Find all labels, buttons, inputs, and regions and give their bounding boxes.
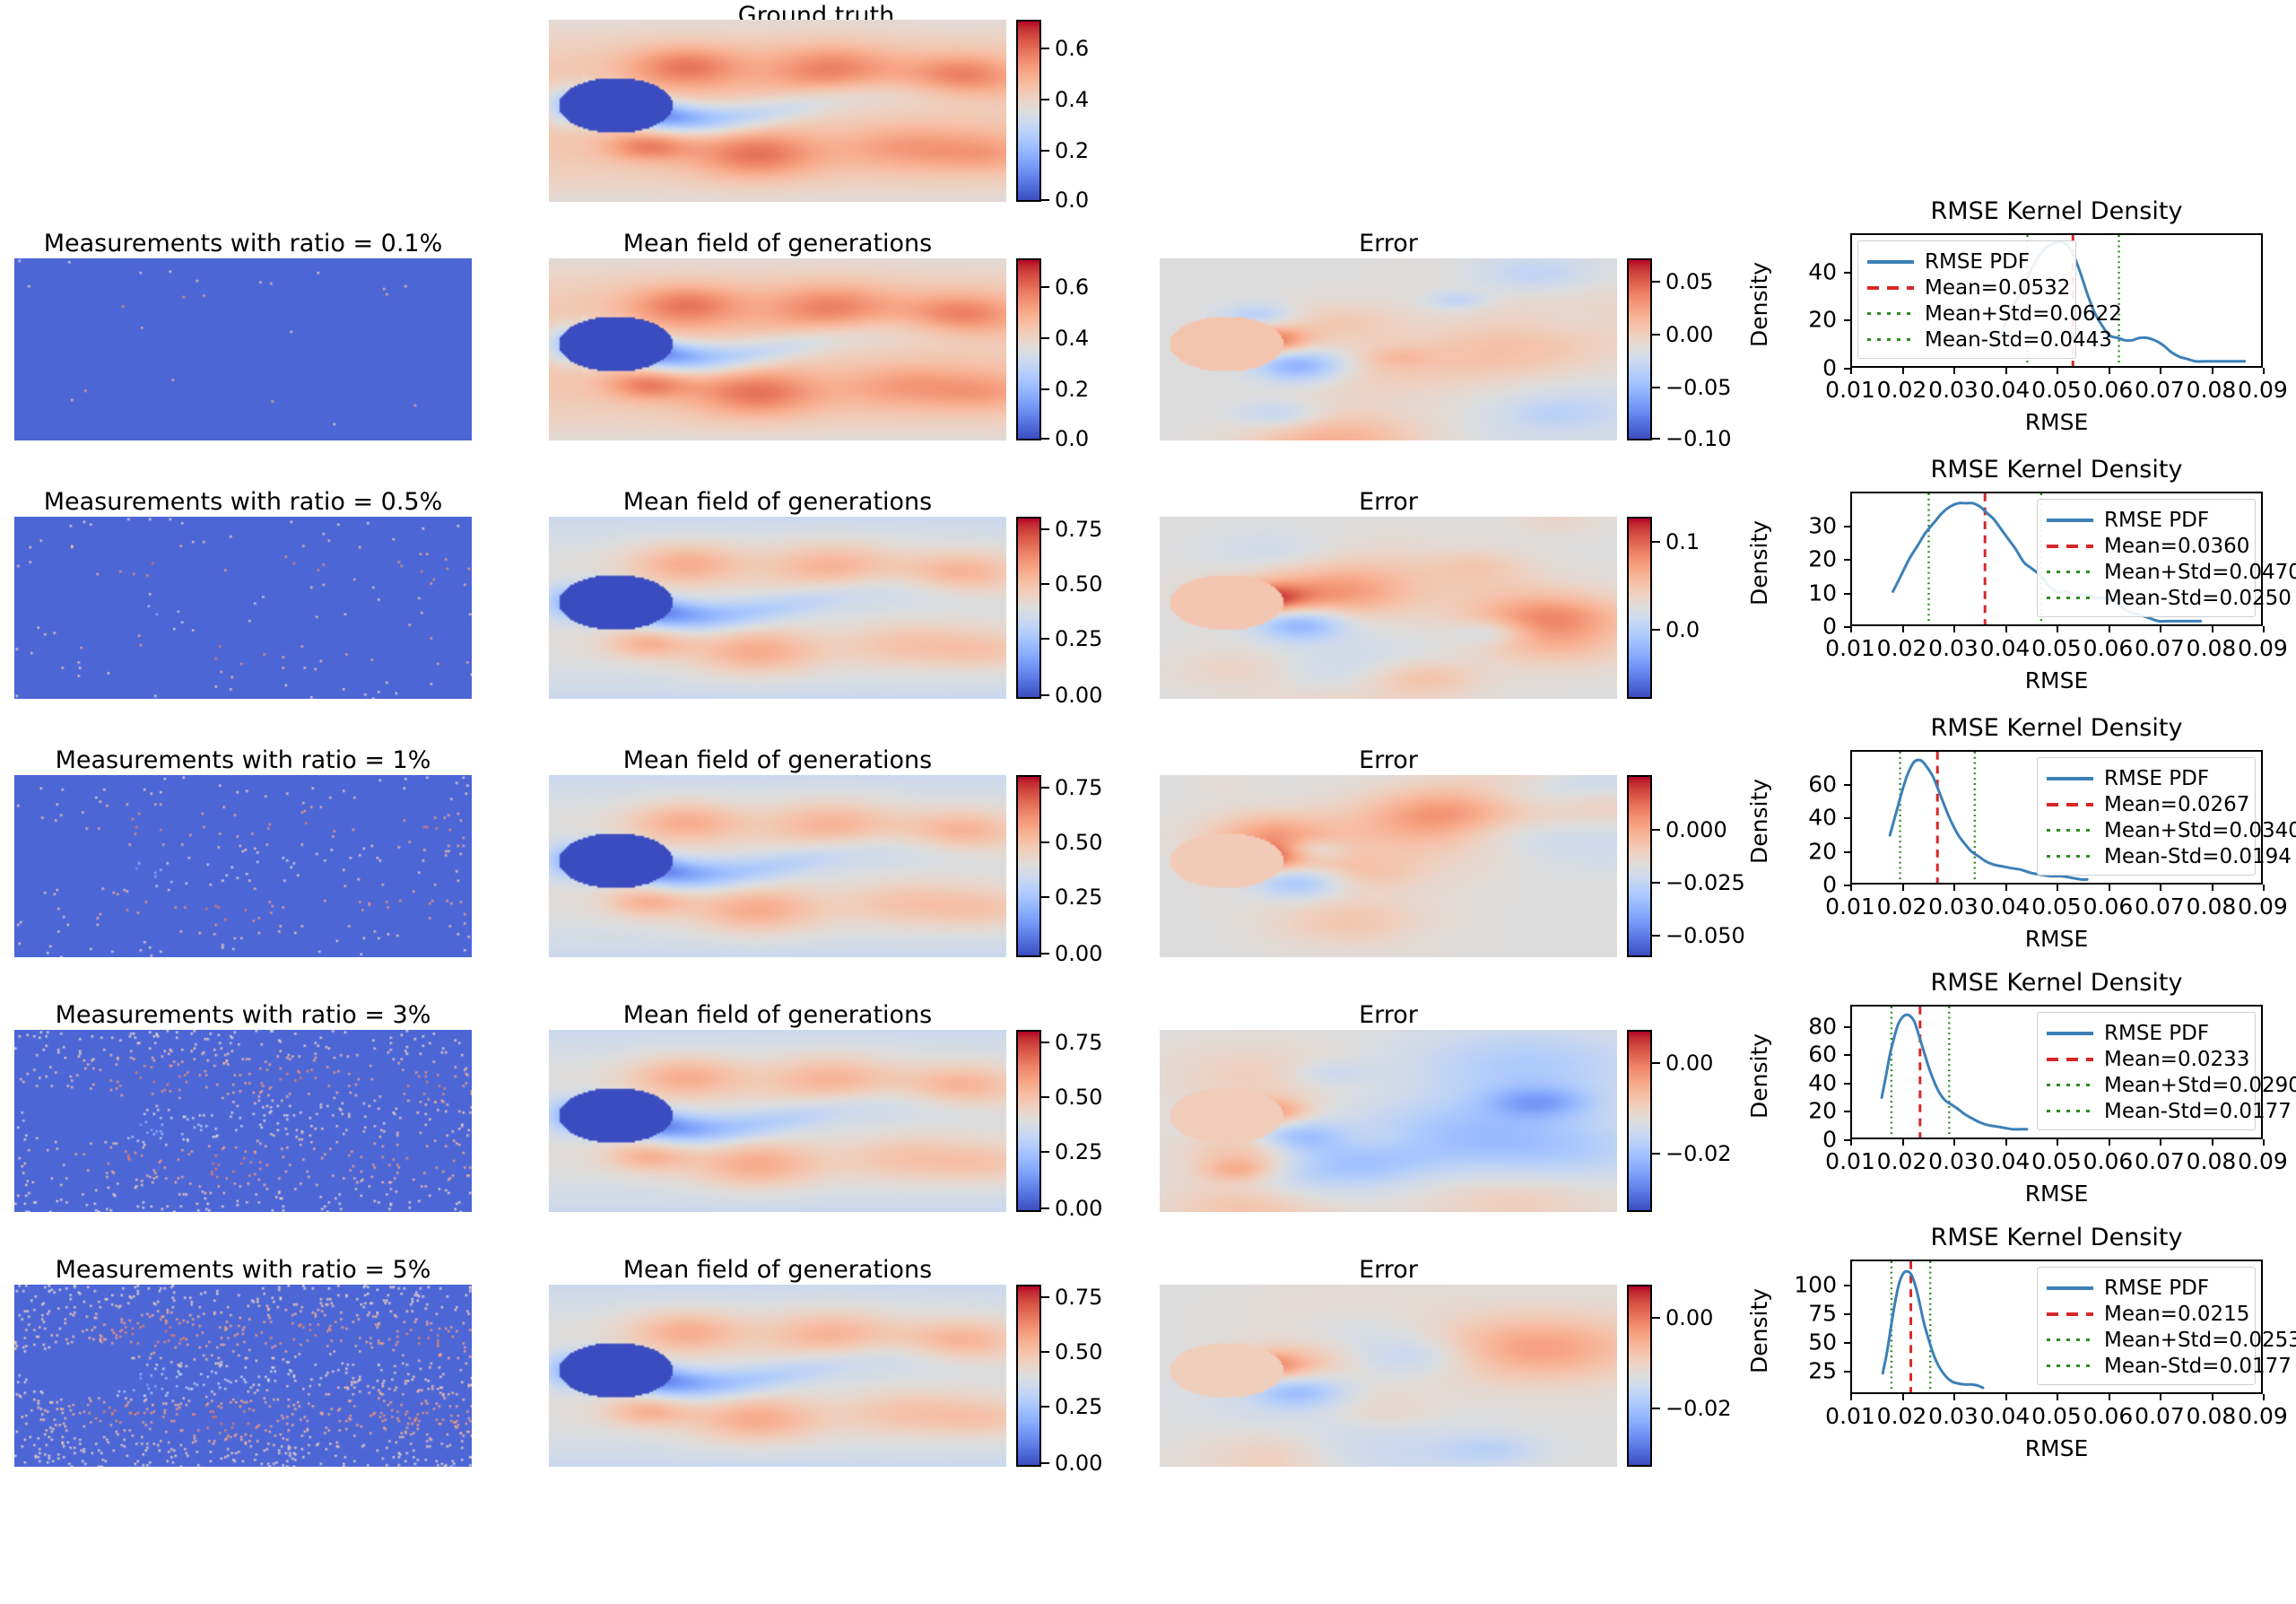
cbar-tick-label: −0.10 — [1665, 428, 1732, 449]
x-tick-mark — [1953, 368, 1955, 374]
kde-title: RMSE Kernel Density — [1753, 456, 2296, 484]
cbar-tick-mark — [1652, 1317, 1660, 1319]
cbar-tick: 0.00 — [1041, 1198, 1102, 1219]
x-tick-label: 0.03 — [1928, 1148, 1979, 1174]
rmse-kde-plot: RMSE Kernel Density0.010.020.030.040.050… — [1753, 456, 2296, 689]
cbar-tick-label: 0.0 — [1055, 428, 1089, 449]
x-tick-mark — [2212, 885, 2213, 891]
x-tick-mark — [1953, 1139, 1955, 1146]
x-tick-mark — [2005, 885, 2007, 891]
cbar-tick-mark — [1041, 337, 1049, 339]
legend-label: Mean+Std=0.0622 — [1925, 302, 2122, 326]
cbar-tick-label: 0.0 — [1055, 189, 1089, 211]
x-tick-mark — [2057, 1394, 2058, 1400]
x-tick-mark — [1953, 885, 1955, 891]
measurements-field — [14, 1285, 472, 1467]
ground-truth-colorbar-ticks: 0.6 0.4 0.2 0.0 — [1041, 20, 1122, 202]
x-tick-mark — [2057, 626, 2058, 632]
mean-field-image — [549, 1285, 1006, 1467]
x-tick-label: 0.07 — [2135, 1148, 2185, 1174]
cbar-tick-label: 0.25 — [1055, 886, 1102, 908]
rmse-kde-plot: RMSE Kernel Density0.010.020.030.040.050… — [1753, 969, 2296, 1202]
cbar-tick-mark — [1041, 1151, 1049, 1153]
legend-entry: Mean+Std=0.0622 — [1867, 301, 2065, 327]
cbar-tick-label: 0.4 — [1055, 327, 1089, 349]
x-tick-mark — [1850, 368, 1852, 374]
cbar-tick-label: 0.25 — [1055, 1141, 1102, 1163]
x-tick-label: 0.06 — [2083, 635, 2134, 661]
x-tick-label: 0.02 — [1877, 1403, 1927, 1429]
y-tick-mark — [1844, 272, 1850, 274]
y-tick-mark — [1844, 1342, 1850, 1344]
x-tick-mark — [2109, 626, 2110, 632]
x-tick-mark — [2160, 626, 2161, 632]
error-canvas — [1160, 1285, 1617, 1467]
error-field-image — [1160, 775, 1617, 957]
cbar-tick-label: 0.2 — [1055, 379, 1089, 400]
cbar-tick: 0.00 — [1041, 943, 1102, 964]
error-field-image — [1160, 258, 1617, 440]
cbar-tick-label: −0.02 — [1665, 1143, 1732, 1164]
legend-entry: Mean+Std=0.0340 — [2047, 817, 2244, 843]
legend-entry: Mean+Std=0.0470 — [2047, 559, 2244, 585]
cbar-tick-label: 0.00 — [1665, 324, 1713, 345]
cbar-tick-mark — [1041, 1096, 1049, 1098]
y-tick-mark — [1844, 319, 1850, 321]
mean-field-colorbar-ticks: 0.750.500.250.00 — [1041, 775, 1167, 957]
x-tick-mark — [2160, 1139, 2161, 1146]
x-tick-label: 0.04 — [1980, 894, 2031, 920]
legend-entry: Mean-Std=0.0250 — [2047, 585, 2244, 611]
cbar-tick-label: 0.00 — [1665, 1052, 1713, 1074]
cbar-tick-label: −0.025 — [1665, 872, 1745, 894]
cbar-tick-mark — [1652, 541, 1660, 543]
measurements-canvas — [14, 1285, 472, 1467]
cbar-tick-label: 0.0 — [1665, 619, 1700, 641]
x-tick-mark — [2160, 1394, 2161, 1400]
legend-entry: Mean=0.0532 — [1867, 275, 2065, 301]
y-tick-mark — [1844, 526, 1850, 527]
x-tick-label: 0.04 — [1980, 1403, 2031, 1429]
cbar-tick-mark — [1652, 387, 1660, 388]
x-tick-label: 0.02 — [1877, 894, 1927, 920]
x-tick-label: 0.07 — [2135, 377, 2185, 403]
kde-title: RMSE Kernel Density — [1753, 1224, 2296, 1251]
x-tick-label: 0.07 — [2135, 635, 2185, 661]
ground-truth-field — [549, 20, 1006, 202]
legend-label: RMSE PDF — [2104, 767, 2209, 790]
error-colorbar — [1627, 517, 1652, 699]
x-tick-mark — [2263, 626, 2265, 632]
x-tick-mark — [2005, 1394, 2007, 1400]
cbar-tick-mark — [1652, 281, 1660, 283]
x-tick-mark — [2109, 1139, 2110, 1146]
kde-ylabel: Density — [1746, 1288, 1772, 1373]
y-tick-mark — [1844, 1285, 1850, 1286]
x-tick-mark — [2212, 1394, 2213, 1400]
x-tick-mark — [2005, 1139, 2007, 1146]
legend-label: Mean-Std=0.0177 — [2104, 1355, 2292, 1378]
legend-label: Mean=0.0267 — [2104, 793, 2249, 816]
kde-ylabel: Density — [1746, 1033, 1772, 1119]
kde-xlabel: RMSE — [1850, 667, 2263, 693]
x-tick-mark — [2109, 885, 2110, 891]
x-tick-label: 0.06 — [2083, 377, 2134, 403]
cbar-tick: −0.02 — [1652, 1398, 1732, 1419]
measurements-field — [14, 1030, 472, 1212]
cbar-tick-label: 0.25 — [1055, 1396, 1102, 1417]
cbar-tick-label: 0.00 — [1055, 1198, 1102, 1219]
legend-entry: Mean-Std=0.0443 — [1867, 327, 2065, 353]
y-tick-mark — [1844, 784, 1850, 786]
legend-label: RMSE PDF — [2104, 509, 2209, 532]
cbar-tick: 0.00 — [1041, 1452, 1102, 1474]
x-tick-label: 0.08 — [2187, 377, 2237, 403]
cbar-tick-label: 0.00 — [1055, 684, 1102, 706]
measurements-title: Measurements with ratio = 3% — [14, 1001, 472, 1029]
x-tick-mark — [2212, 626, 2213, 632]
legend-label: Mean=0.0360 — [2104, 535, 2249, 558]
error-canvas — [1160, 775, 1617, 957]
x-tick-mark — [2160, 885, 2161, 891]
cbar-tick-label: 0.1 — [1665, 531, 1700, 553]
legend-entry: Mean=0.0233 — [2047, 1046, 2244, 1072]
y-tick-mark — [1844, 1026, 1850, 1028]
error-title: Error — [1160, 746, 1617, 774]
y-tick-mark — [1844, 559, 1850, 561]
cbar-tick: 0.75 — [1041, 777, 1102, 798]
cbar-tick-mark — [1041, 438, 1049, 440]
cbar-tick-label: −0.05 — [1665, 377, 1732, 398]
cbar-tick-mark — [1041, 528, 1049, 530]
error-title: Error — [1160, 1256, 1617, 1284]
y-tick-mark — [1844, 1111, 1850, 1112]
cbar-tick-mark — [1041, 1406, 1049, 1408]
x-tick-mark — [2005, 626, 2007, 632]
x-tick-mark — [2109, 1394, 2110, 1400]
x-tick-mark — [1953, 1394, 1955, 1400]
cbar-tick: 0.0 — [1041, 428, 1089, 449]
cbar-tick: 0.50 — [1041, 1341, 1102, 1363]
x-tick-label: 0.05 — [2031, 377, 2082, 403]
mean-field-image — [549, 1030, 1006, 1212]
x-tick-mark — [2263, 1139, 2265, 1146]
mean-field-canvas — [549, 258, 1006, 440]
measurements-field — [14, 517, 472, 699]
cbar-tick-label: 0.00 — [1665, 1307, 1713, 1329]
legend-entry: RMSE PDF — [2047, 765, 2244, 791]
kde-legend: RMSE PDFMean=0.0215Mean+Std=0.0253Mean-S… — [2037, 1267, 2256, 1385]
cbar-tick-mark — [1652, 438, 1660, 440]
x-tick-mark — [1850, 885, 1852, 891]
cbar-tick-label: 0.75 — [1055, 1286, 1102, 1308]
cbar-tick: 0.50 — [1041, 832, 1102, 853]
y-tick-mark — [1844, 593, 1850, 595]
kde-legend: RMSE PDFMean=0.0360Mean+Std=0.0470Mean-S… — [2037, 499, 2256, 617]
cbar-tick-label: 0.4 — [1055, 89, 1089, 110]
measurements-canvas — [14, 1030, 472, 1212]
x-tick-label: 0.08 — [2187, 1403, 2237, 1429]
legend-label: Mean+Std=0.0253 — [2104, 1329, 2296, 1352]
kde-ylabel: Density — [1746, 262, 1772, 347]
cbar-tick-label: 0.2 — [1055, 140, 1089, 161]
cbar-tick-label: 0.6 — [1055, 276, 1089, 298]
x-tick-mark — [2263, 885, 2265, 891]
cbar-tick-label: 0.25 — [1055, 628, 1102, 649]
cbar-tick-label: 0.50 — [1055, 1341, 1102, 1363]
cbar-tick: 0.00 — [1652, 324, 1713, 345]
cbar-tick-label: 0.75 — [1055, 777, 1102, 798]
mean-field-colorbar — [1016, 517, 1041, 699]
legend-entry: Mean=0.0360 — [2047, 533, 2244, 559]
legend-entry: RMSE PDF — [2047, 1275, 2244, 1301]
y-tick-mark — [1844, 1139, 1850, 1141]
cbar-tick-mark — [1041, 388, 1049, 390]
cbar-tick: 0.25 — [1041, 628, 1102, 649]
x-tick-mark — [1850, 1139, 1852, 1146]
cbar-tick-mark — [1041, 787, 1049, 789]
cbar-tick-mark — [1652, 1408, 1660, 1409]
cbar-tick: −0.02 — [1652, 1143, 1732, 1164]
cbar-tick-label: 0.000 — [1665, 819, 1727, 841]
cbar-tick-mark — [1041, 953, 1049, 955]
x-tick-label: 0.02 — [1877, 377, 1927, 403]
x-tick-mark — [2212, 1139, 2213, 1146]
cbar-tick-mark — [1041, 1042, 1049, 1043]
measurements-field — [14, 775, 472, 957]
cbar-tick: −0.05 — [1652, 377, 1732, 398]
cbar-tick-mark — [1041, 1351, 1049, 1353]
figure-root: Ground truth 0.6 0.4 0.2 0.0 Measurement… — [0, 0, 2296, 1604]
cbar-tick: 0.05 — [1652, 271, 1713, 292]
kde-legend: RMSE PDFMean=0.0267Mean+Std=0.0340Mean-S… — [2037, 757, 2256, 876]
legend-entry: Mean=0.0215 — [2047, 1301, 2244, 1327]
x-tick-mark — [1902, 1394, 1904, 1400]
x-tick-mark — [2109, 368, 2110, 374]
kde-xlabel: RMSE — [1850, 409, 2263, 435]
cbar-tick: 0.00 — [1652, 1307, 1713, 1329]
rmse-pdf-curve — [1883, 1271, 1983, 1388]
kde-xlabel: RMSE — [1850, 1435, 2263, 1461]
error-title: Error — [1160, 230, 1617, 257]
x-tick-label: 0.01 — [1825, 1403, 1875, 1429]
x-tick-mark — [2212, 368, 2213, 374]
cbar-tick: 0.50 — [1041, 573, 1102, 595]
x-tick-label: 0.08 — [2187, 635, 2237, 661]
y-tick-label: 0 — [1752, 872, 1837, 898]
cbar-tick: 0.000 — [1652, 819, 1727, 841]
mean-field-image — [549, 517, 1006, 699]
x-tick-label: 0.03 — [1928, 635, 1979, 661]
y-tick-mark — [1844, 851, 1850, 853]
error-canvas — [1160, 1030, 1617, 1212]
x-tick-mark — [1902, 1139, 1904, 1146]
mean-field-colorbar-ticks: 0.750.500.250.00 — [1041, 1030, 1167, 1212]
x-tick-mark — [2263, 1394, 2265, 1400]
cbar-tick-mark — [1041, 694, 1049, 696]
cbar-tick-mark — [1041, 1207, 1049, 1209]
measurements-title: Measurements with ratio = 5% — [14, 1256, 472, 1284]
x-tick-label: 0.03 — [1928, 894, 1979, 920]
mean-field-image — [549, 775, 1006, 957]
kde-title: RMSE Kernel Density — [1753, 969, 2296, 997]
legend-label: Mean-Std=0.0250 — [2104, 587, 2292, 610]
cbar-tick: 0.6 — [1041, 276, 1089, 298]
x-tick-mark — [1850, 1394, 1852, 1400]
y-tick-label: 0 — [1752, 355, 1837, 381]
cbar-tick-mark — [1041, 896, 1049, 898]
x-tick-mark — [2057, 368, 2058, 374]
legend-label: Mean=0.0215 — [2104, 1303, 2249, 1326]
cbar-tick-mark — [1652, 1062, 1660, 1064]
legend-entry: Mean=0.0267 — [2047, 791, 2244, 817]
cbar-tick-label: 0.75 — [1055, 519, 1102, 540]
mean-field-colorbar — [1016, 1285, 1041, 1467]
kde-xlabel: RMSE — [1850, 926, 2263, 952]
mean-field-colorbar-ticks: 0.750.500.250.00 — [1041, 1285, 1167, 1467]
legend-entry: RMSE PDF — [2047, 1020, 2244, 1046]
legend-label: Mean+Std=0.0470 — [2104, 561, 2296, 584]
y-tick-mark — [1844, 368, 1850, 370]
mean-field-title: Mean field of generations — [549, 1256, 1006, 1284]
x-tick-label: 0.04 — [1980, 635, 2031, 661]
cbar-tick: 0.1 — [1652, 531, 1700, 553]
x-tick-label: 0.06 — [2083, 894, 2134, 920]
measurements-canvas — [14, 775, 472, 957]
y-tick-label: 0 — [1752, 1127, 1837, 1153]
error-canvas — [1160, 517, 1617, 699]
legend-entry: Mean-Std=0.0177 — [2047, 1098, 2244, 1124]
mean-field-colorbar-ticks: 0.60.40.20.0 — [1041, 258, 1167, 440]
measurements-field — [14, 258, 472, 440]
cbar-tick-label: −0.050 — [1665, 925, 1745, 946]
cbar-tick: 0.25 — [1041, 1141, 1102, 1163]
cbar-tick-label: 0.05 — [1665, 271, 1713, 292]
mean-field-title: Mean field of generations — [549, 488, 1006, 516]
measurements-title: Measurements with ratio = 0.1% — [14, 230, 472, 257]
x-tick-mark — [1902, 626, 1904, 632]
x-tick-mark — [1953, 626, 1955, 632]
kde-legend: RMSE PDFMean=0.0532Mean+Std=0.0622Mean-S… — [1857, 240, 2076, 359]
cbar-tick: −0.10 — [1652, 428, 1732, 449]
x-tick-label: 0.03 — [1928, 377, 1979, 403]
legend-label: Mean-Std=0.0194 — [2104, 845, 2292, 868]
mean-field-colorbar-ticks: 0.750.500.250.00 — [1041, 517, 1167, 699]
x-tick-label: 0.04 — [1980, 1148, 2031, 1174]
cbar-tick-mark — [1652, 935, 1660, 937]
kde-title: RMSE Kernel Density — [1753, 714, 2296, 742]
cbar-tick-label: 0.50 — [1055, 1086, 1102, 1108]
measurements-canvas — [14, 258, 472, 440]
x-tick-mark — [1850, 626, 1852, 632]
measurements-title: Measurements with ratio = 1% — [14, 746, 472, 774]
x-tick-label: 0.02 — [1877, 1148, 1927, 1174]
mean-field-colorbar — [1016, 258, 1041, 440]
error-colorbar — [1627, 258, 1652, 440]
x-tick-label: 0.04 — [1980, 377, 2031, 403]
mean-field-canvas — [549, 1030, 1006, 1212]
mean-field-canvas — [549, 1285, 1006, 1467]
legend-entry: Mean-Std=0.0177 — [2047, 1353, 2244, 1379]
cbar-tick-label: 0.00 — [1055, 943, 1102, 964]
x-tick-label: 0.05 — [2031, 1148, 2082, 1174]
cbar-tick-mark — [1652, 882, 1660, 884]
cbar-tick-mark — [1041, 1462, 1049, 1464]
x-tick-label: 0.03 — [1928, 1403, 1979, 1429]
cbar-tick: 0.75 — [1041, 519, 1102, 540]
x-tick-mark — [2005, 368, 2007, 374]
legend-label: RMSE PDF — [2104, 1022, 2209, 1045]
mean-field-colorbar — [1016, 1030, 1041, 1212]
mean-field-canvas — [549, 517, 1006, 699]
x-tick-label: 0.05 — [2031, 1403, 2082, 1429]
kde-xlabel: RMSE — [1850, 1181, 2263, 1207]
cbar-tick: 0.50 — [1041, 1086, 1102, 1108]
x-tick-label: 0.05 — [2031, 635, 2082, 661]
measurements-title: Measurements with ratio = 0.5% — [14, 488, 472, 516]
cbar-tick-mark — [1041, 638, 1049, 640]
x-tick-label: 0.07 — [2135, 894, 2185, 920]
cbar-tick-mark — [1652, 1153, 1660, 1155]
y-tick-mark — [1844, 1083, 1850, 1085]
cbar-tick-mark — [1652, 334, 1660, 336]
error-canvas — [1160, 258, 1617, 440]
legend-entry: Mean-Std=0.0194 — [2047, 843, 2244, 869]
measurements-canvas — [14, 517, 472, 699]
cbar-tick: 0.0 — [1652, 619, 1700, 641]
kde-legend: RMSE PDFMean=0.0233Mean+Std=0.0290Mean-S… — [2037, 1012, 2256, 1130]
cbar-tick-label: 0.50 — [1055, 573, 1102, 595]
error-colorbar — [1627, 1030, 1652, 1212]
cbar-tick-mark — [1041, 1296, 1049, 1298]
mean-field-title: Mean field of generations — [549, 230, 1006, 257]
rmse-kde-plot: RMSE Kernel Density0.010.020.030.040.050… — [1753, 714, 2296, 947]
y-tick-mark — [1844, 885, 1850, 886]
legend-label: Mean-Std=0.0177 — [2104, 1100, 2292, 1123]
x-tick-label: 0.07 — [2135, 1403, 2185, 1429]
cbar-tick: −0.025 — [1652, 872, 1745, 894]
x-tick-mark — [2057, 1139, 2058, 1146]
cbar-tick: 0.75 — [1041, 1032, 1102, 1053]
x-tick-label: 0.06 — [2083, 1403, 2134, 1429]
mean-field-canvas — [549, 775, 1006, 957]
cbar-tick: 0.25 — [1041, 1396, 1102, 1417]
x-tick-label: 0.09 — [2238, 1403, 2288, 1429]
x-tick-mark — [1902, 885, 1904, 891]
cbar-tick-label: 0.50 — [1055, 832, 1102, 853]
y-tick-mark — [1844, 1054, 1850, 1056]
ground-truth-colorbar — [1016, 20, 1041, 202]
x-tick-label: 0.08 — [2187, 894, 2237, 920]
y-tick-mark — [1844, 1313, 1850, 1315]
x-tick-label: 0.09 — [2238, 635, 2288, 661]
error-title: Error — [1160, 488, 1617, 516]
cbar-tick: 0.00 — [1652, 1052, 1713, 1074]
x-tick-mark — [2263, 368, 2265, 374]
cbar-tick: 0.4 — [1041, 327, 1089, 349]
legend-entry: RMSE PDF — [1867, 248, 2065, 275]
x-tick-label: 0.02 — [1877, 635, 1927, 661]
x-tick-label: 0.08 — [2187, 1148, 2237, 1174]
kde-title: RMSE Kernel Density — [1753, 197, 2296, 225]
legend-label: Mean=0.0532 — [1925, 276, 2070, 300]
cbar-tick: 0.2 — [1041, 379, 1089, 400]
x-tick-label: 0.09 — [2238, 894, 2288, 920]
x-tick-mark — [2160, 368, 2161, 374]
mean-field-title: Mean field of generations — [549, 746, 1006, 774]
y-tick-label: 0 — [1752, 614, 1837, 640]
legend-entry: Mean+Std=0.0253 — [2047, 1327, 2244, 1353]
